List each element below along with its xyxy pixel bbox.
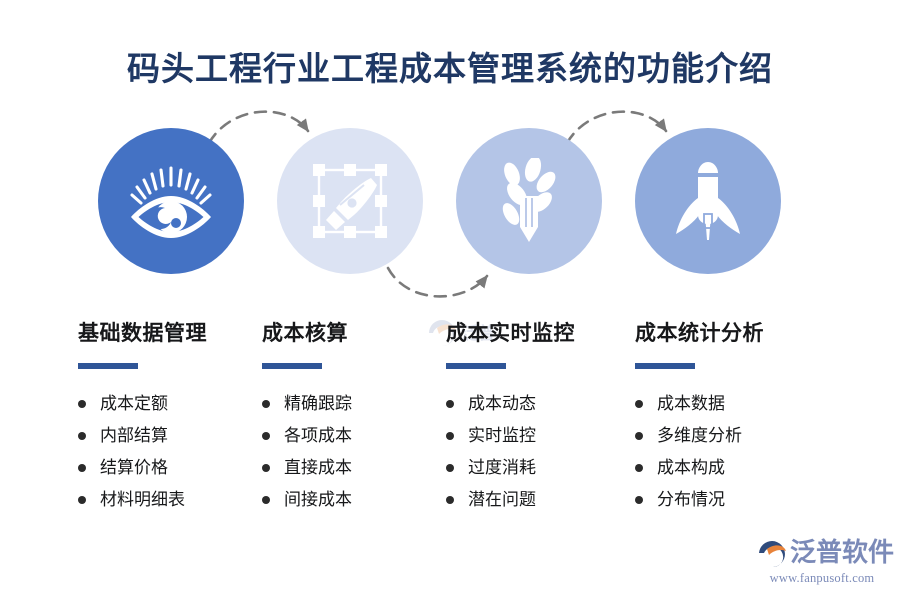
eye-icon bbox=[125, 160, 217, 242]
list-item-label: 成本定额 bbox=[100, 393, 168, 415]
bullet-dot-icon bbox=[78, 464, 86, 472]
page-title: 码头工程行业工程成本管理系统的功能介绍 bbox=[0, 48, 900, 92]
column-heading: 成本核算 bbox=[262, 318, 462, 348]
bullet-dot-icon bbox=[262, 496, 270, 504]
bullet-dot-icon bbox=[78, 496, 86, 504]
list-item-label: 精确跟踪 bbox=[284, 393, 352, 415]
column-bullet-list: 成本数据 多维度分析 成本构成 分布情况 bbox=[635, 393, 835, 511]
list-item: 成本定额 bbox=[78, 393, 278, 415]
list-item-label: 过度消耗 bbox=[468, 457, 536, 479]
brand-logo-row: 泛普软件 bbox=[756, 536, 888, 570]
column-heading: 成本统计分析 bbox=[635, 318, 835, 348]
step-column-3: 成本实时监控 成本动态 实时监控 过度消耗 潜在问题 bbox=[446, 318, 646, 521]
list-item-label: 材料明细表 bbox=[100, 489, 185, 511]
step-column-4: 成本统计分析 成本数据 多维度分析 成本构成 分布情况 bbox=[635, 318, 835, 521]
step-circle-2[interactable] bbox=[277, 128, 423, 274]
step-column-1: 基础数据管理 成本定额 内部结算 结算价格 材料明细表 bbox=[78, 318, 278, 521]
step-column-2: 成本核算 精确跟踪 各项成本 直接成本 间接成本 bbox=[262, 318, 462, 521]
list-item-label: 分布情况 bbox=[657, 489, 725, 511]
column-bullet-list: 精确跟踪 各项成本 直接成本 间接成本 bbox=[262, 393, 462, 511]
step-circle-1[interactable] bbox=[98, 128, 244, 274]
list-item-label: 成本动态 bbox=[468, 393, 536, 415]
bullet-dot-icon bbox=[635, 464, 643, 472]
bullet-dot-icon bbox=[262, 464, 270, 472]
list-item: 成本数据 bbox=[635, 393, 835, 415]
list-item: 实时监控 bbox=[446, 425, 646, 447]
step-detail-columns: 基础数据管理 成本定额 内部结算 结算价格 材料明细表 成本核算 精确跟踪 各项… bbox=[0, 318, 900, 568]
column-bullet-list: 成本动态 实时监控 过度消耗 潜在问题 bbox=[446, 393, 646, 511]
bullet-dot-icon bbox=[635, 400, 643, 408]
column-rule bbox=[635, 363, 695, 369]
list-item: 结算价格 bbox=[78, 457, 278, 479]
brand-name: 泛普软件 bbox=[790, 538, 894, 568]
bullet-dot-icon bbox=[446, 496, 454, 504]
list-item-label: 多维度分析 bbox=[657, 425, 742, 447]
list-item-label: 成本数据 bbox=[657, 393, 725, 415]
bullet-dot-icon bbox=[446, 432, 454, 440]
step-circle-3[interactable] bbox=[456, 128, 602, 274]
pen-tool-icon bbox=[310, 161, 390, 241]
bullet-dot-icon bbox=[262, 400, 270, 408]
list-item-label: 直接成本 bbox=[284, 457, 352, 479]
column-bullet-list: 成本定额 内部结算 结算价格 材料明细表 bbox=[78, 393, 278, 511]
brand-url: www.fanpusoft.com bbox=[756, 570, 888, 586]
bullet-dot-icon bbox=[78, 400, 86, 408]
list-item: 多维度分析 bbox=[635, 425, 835, 447]
column-heading: 成本实时监控 bbox=[446, 318, 646, 348]
brand-logo: 泛普软件 www.fanpusoft.com bbox=[756, 536, 888, 588]
list-item: 潜在问题 bbox=[446, 489, 646, 511]
list-item: 材料明细表 bbox=[78, 489, 278, 511]
bullet-dot-icon bbox=[635, 432, 643, 440]
leaf-pencil-icon bbox=[488, 158, 570, 244]
list-item: 分布情况 bbox=[635, 489, 835, 511]
bullet-dot-icon bbox=[635, 496, 643, 504]
rocket-icon bbox=[665, 158, 751, 244]
column-heading: 基础数据管理 bbox=[78, 318, 278, 348]
list-item: 成本构成 bbox=[635, 457, 835, 479]
step-circle-4[interactable] bbox=[635, 128, 781, 274]
list-item-label: 内部结算 bbox=[100, 425, 168, 447]
list-item: 精确跟踪 bbox=[262, 393, 462, 415]
column-rule bbox=[446, 363, 506, 369]
list-item: 直接成本 bbox=[262, 457, 462, 479]
list-item-label: 实时监控 bbox=[468, 425, 536, 447]
list-item-label: 潜在问题 bbox=[468, 489, 536, 511]
bullet-dot-icon bbox=[78, 432, 86, 440]
column-rule bbox=[262, 363, 322, 369]
column-rule bbox=[78, 363, 138, 369]
list-item-label: 成本构成 bbox=[657, 457, 725, 479]
infographic-canvas: 码头工程行业工程成本管理系统的功能介绍 bbox=[0, 0, 900, 600]
list-item-label: 间接成本 bbox=[284, 489, 352, 511]
list-item: 内部结算 bbox=[78, 425, 278, 447]
bullet-dot-icon bbox=[446, 464, 454, 472]
bullet-dot-icon bbox=[446, 400, 454, 408]
list-item-label: 各项成本 bbox=[284, 425, 352, 447]
step-icon-row bbox=[0, 128, 900, 284]
list-item-label: 结算价格 bbox=[100, 457, 168, 479]
fanpu-logo-mark bbox=[756, 538, 788, 568]
list-item: 成本动态 bbox=[446, 393, 646, 415]
list-item: 间接成本 bbox=[262, 489, 462, 511]
list-item: 各项成本 bbox=[262, 425, 462, 447]
list-item: 过度消耗 bbox=[446, 457, 646, 479]
bullet-dot-icon bbox=[262, 432, 270, 440]
